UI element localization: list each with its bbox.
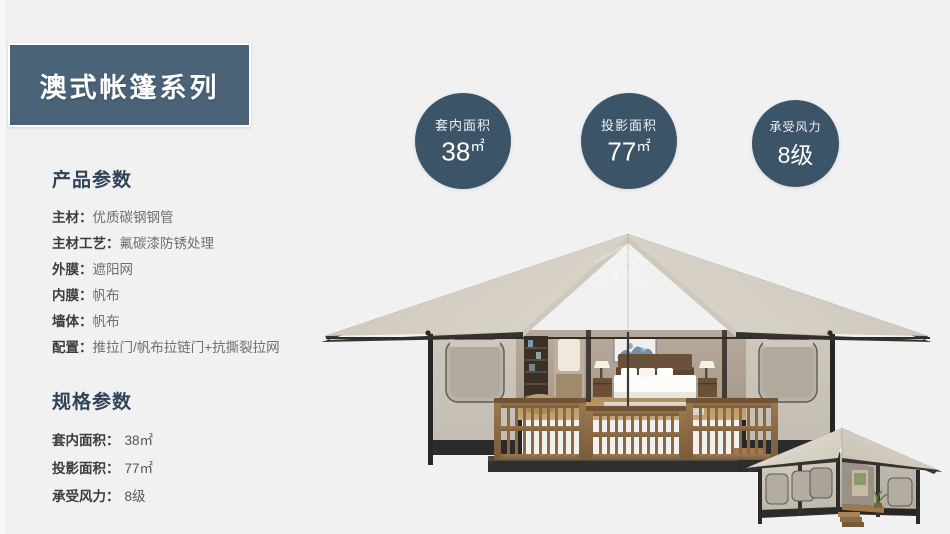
spec-params-group: 规格参数 套内面积：38㎡ 投影面积：77㎡ 承受风力：8级 xyxy=(52,387,352,511)
product-params-title: 产品参数 xyxy=(52,165,352,192)
param-value: 8级 xyxy=(120,489,146,504)
series-title-text: 澳式帐篷系列 xyxy=(40,66,220,105)
param-value: 遮阳网 xyxy=(93,262,134,277)
param-value: 帆布 xyxy=(93,288,120,303)
product-param-row: 主材工艺：氟碳漆防锈处理 xyxy=(52,231,352,257)
param-value: 推拉门/帆布拉链门+抗撕裂拉网 xyxy=(93,340,280,355)
slide-canvas: 澳式帐篷系列 产品参数 主材：优质碳钢钢管 主材工艺：氟碳漆防锈处理 外膜：遮阳… xyxy=(0,0,950,534)
spec-param-row: 套内面积：38㎡ xyxy=(52,427,352,455)
badge-value: 8级 xyxy=(778,136,814,170)
param-value: 38㎡ xyxy=(120,433,154,448)
badge-label: 套内面积 xyxy=(435,115,491,134)
product-param-row: 主材：优质碳钢钢管 xyxy=(52,205,352,231)
product-param-row: 配置：推拉门/帆布拉链门+抗撕裂拉网 xyxy=(52,335,352,361)
param-key: 主材： xyxy=(52,210,93,225)
stat-badge-projected-area: 投影面积 77㎡ xyxy=(581,93,677,189)
param-key: 墙体： xyxy=(52,314,93,329)
product-param-row: 外膜：遮阳网 xyxy=(52,257,352,283)
stat-badge-interior-area: 套内面积 38㎡ xyxy=(415,93,511,189)
param-value: 氟碳漆防锈处理 xyxy=(120,236,215,251)
param-key: 套内面积： xyxy=(52,433,120,448)
spec-param-row: 承受风力：8级 xyxy=(52,483,352,511)
product-params-group: 产品参数 主材：优质碳钢钢管 主材工艺：氟碳漆防锈处理 外膜：遮阳网 内膜：帆布… xyxy=(52,165,352,361)
param-key: 外膜： xyxy=(52,262,93,277)
param-value: 帆布 xyxy=(93,314,120,329)
stat-badge-wind-resistance: 承受风力 8级 xyxy=(752,100,839,187)
param-key: 主材工艺： xyxy=(52,236,120,251)
param-key: 配置： xyxy=(52,340,93,355)
product-param-row: 内膜：帆布 xyxy=(52,283,352,309)
spec-param-row: 投影面积：77㎡ xyxy=(52,455,352,483)
param-value: 优质碳钢钢管 xyxy=(93,210,174,225)
secondary-tent-illustration xyxy=(742,418,950,534)
badge-value: 77㎡ xyxy=(607,135,650,168)
param-key: 投影面积： xyxy=(52,461,120,476)
badge-label: 承受风力 xyxy=(769,118,821,135)
left-edge-gutter xyxy=(0,0,7,534)
badge-label: 投影面积 xyxy=(601,115,657,134)
spec-params-title: 规格参数 xyxy=(52,387,352,414)
product-param-row: 墙体：帆布 xyxy=(52,309,352,335)
series-title-banner: 澳式帐篷系列 xyxy=(8,43,251,127)
param-value: 77㎡ xyxy=(120,461,154,476)
badge-value: 38㎡ xyxy=(441,135,484,168)
param-key: 承受风力： xyxy=(52,489,120,504)
specifications-panel: 产品参数 主材：优质碳钢钢管 主材工艺：氟碳漆防锈处理 外膜：遮阳网 内膜：帆布… xyxy=(52,165,352,511)
param-key: 内膜： xyxy=(52,288,93,303)
